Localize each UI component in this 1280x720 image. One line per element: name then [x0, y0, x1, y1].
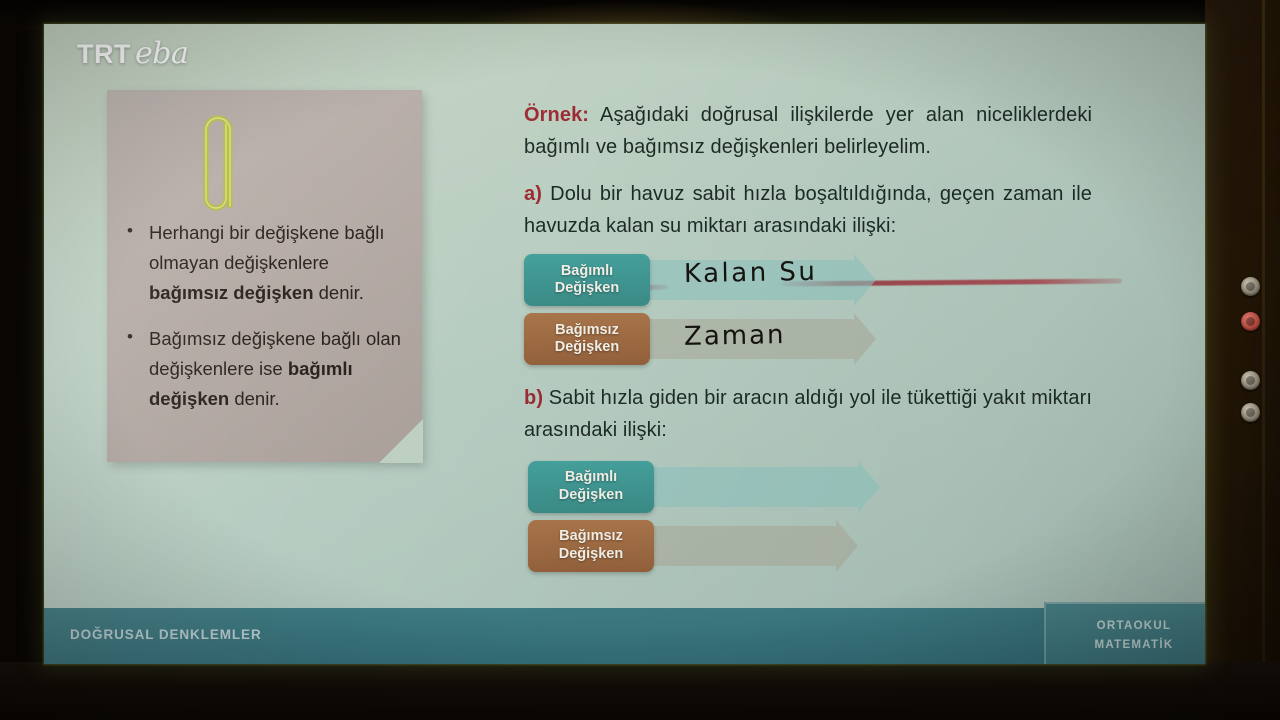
question-a: a) Dolu bir havuz sabit hızla boşaltıldı…	[524, 179, 1092, 242]
badge-line-1: Bağımlı	[565, 469, 617, 487]
question-b-label: b)	[524, 387, 543, 409]
logo-eba-text: eba	[135, 36, 188, 71]
definition-text-1: Herhangi bir değişkene bağlı olmayan değ…	[149, 222, 385, 303]
arrow-head	[854, 313, 876, 365]
wall-button-2[interactable]	[1241, 312, 1260, 331]
arrow-head	[858, 461, 880, 513]
answer-row-dependent-a: Bağımlı Değişken Kalan Su	[524, 254, 1092, 306]
badge-line-2: Değişken	[555, 280, 619, 298]
badge-line-1: Bağımlı	[561, 263, 613, 281]
wall-bottom	[0, 662, 1280, 720]
badge-independent-variable: Bağımsız Değişken	[528, 520, 654, 572]
question-b-text: Sabit hızla giden bir aracın aldığı yol …	[524, 387, 1092, 441]
example-intro: Örnek: Aşağıdaki doğrusal ilişkilerde ye…	[524, 100, 1092, 163]
handwritten-answer-dependent-a: Kalan Su	[684, 257, 818, 289]
arrow-head	[854, 254, 876, 306]
badge-dependent-variable: Bağımlı Değişken	[524, 254, 650, 306]
list-item: Herhangi bir değişkene bağlı olmayan değ…	[123, 218, 411, 308]
lesson-content: Örnek: Aşağıdaki doğrusal ilişkilerde ye…	[524, 100, 1092, 579]
list-item: Bağımsız değişkene bağlı olan değişkenle…	[123, 324, 411, 414]
badge-line-2: Değişken	[555, 339, 619, 357]
answer-row-independent-b: Bağımsız Değişken	[528, 520, 1092, 572]
subject-level-text: ORTAOKUL	[1097, 620, 1172, 632]
question-a-text: Dolu bir havuz sabit hızla boşaltıldığın…	[524, 183, 1092, 237]
question-b: b) Sabit hızla giden bir aracın aldığı y…	[524, 383, 1092, 446]
projection-screen: TRT eba Herhangi bir değişkene bağlı olm…	[44, 24, 1205, 664]
badge-line-2: Değişken	[559, 487, 623, 505]
slide: TRT eba Herhangi bir değişkene bağlı olm…	[44, 24, 1205, 664]
note-card-corner-fold	[382, 422, 422, 462]
definition-text-2: Bağımsız değişkene bağlı olan değişkenle…	[149, 328, 401, 409]
wall-button-panel[interactable]	[1238, 275, 1266, 425]
answer-row-dependent-b: Bağımlı Değişken	[528, 461, 1092, 513]
paperclip-icon	[196, 106, 240, 221]
example-label: Örnek:	[524, 104, 589, 126]
trt-eba-logo: TRT eba	[77, 36, 188, 71]
subject-badge: ORTAOKUL MATEMATİK	[1044, 602, 1205, 664]
definition-list: Herhangi bir değişkene bağlı olmayan değ…	[123, 218, 411, 430]
handwritten-answer-independent-a: Zaman	[684, 320, 786, 352]
answer-group-b: Bağımlı Değişken Bağımsız Değişken	[528, 461, 1092, 572]
example-intro-text: Aşağıdaki doğrusal ilişkilerde yer alan …	[524, 104, 1092, 158]
badge-line-1: Bağımsız	[555, 322, 619, 340]
answer-row-independent-a: Bağımsız Değişken Zaman	[524, 313, 1092, 365]
question-a-label: a)	[524, 183, 542, 205]
subject-name-text: MATEMATİK	[1095, 639, 1174, 651]
wall-button-1[interactable]	[1241, 277, 1260, 296]
wall-button-4[interactable]	[1241, 403, 1260, 422]
logo-trt-text: TRT	[77, 39, 131, 70]
slide-footer-bar: DOĞRUSAL DENKLEMLER	[44, 608, 1205, 664]
arrow-head	[836, 520, 858, 572]
note-card: Herhangi bir değişkene bağlı olmayan değ…	[107, 90, 422, 462]
wall-button-3[interactable]	[1241, 371, 1260, 390]
footer-topic-title: DOĞRUSAL DENKLEMLER	[70, 627, 262, 642]
badge-line-2: Değişken	[559, 546, 623, 564]
badge-line-1: Bağımsız	[559, 528, 623, 546]
badge-independent-variable: Bağımsız Değişken	[524, 313, 650, 365]
room-scene: TRT eba Herhangi bir değişkene bağlı olm…	[0, 0, 1280, 720]
answer-group-a: Bağımlı Değişken Kalan Su Bağımsız Değiş…	[524, 254, 1092, 365]
badge-dependent-variable: Bağımlı Değişken	[528, 461, 654, 513]
